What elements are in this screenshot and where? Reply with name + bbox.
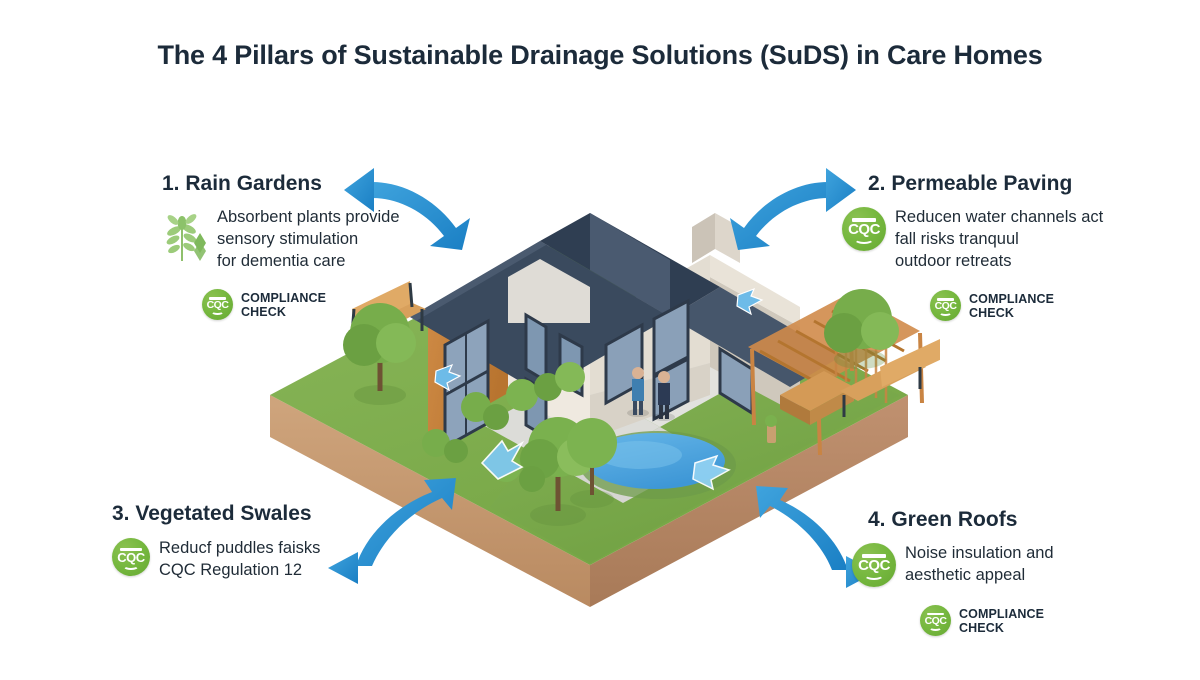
infographic-canvas: The 4 Pillars of Sustainable Drainage So…	[0, 0, 1200, 675]
pillar-4-compliance-check[interactable]: CQC COMPLIANCE CHECK	[920, 605, 1118, 636]
page-title: The 4 Pillars of Sustainable Drainage So…	[0, 40, 1200, 71]
cqc-badge-icon: CQC	[112, 538, 150, 576]
windows-left	[445, 321, 488, 447]
cqc-smile	[123, 561, 140, 569]
cqc-smile	[211, 308, 225, 315]
pillar-vegetated-swales: 3. Vegetated Swales CQC Reducf puddles f…	[112, 502, 372, 582]
cqc-bar	[209, 297, 226, 299]
pillar-1-heading: 1. Rain Gardens	[162, 172, 412, 195]
cqc-smile	[939, 309, 953, 316]
cqc-smile	[854, 234, 873, 244]
cqc-bar	[120, 548, 141, 551]
pillar-3-description: Reducf puddles faisks CQC Regulation 12	[159, 538, 320, 582]
pillar-4-compliance-label: COMPLIANCE CHECK	[959, 607, 1044, 635]
cqc-badge-icon: CQC	[930, 290, 961, 321]
cqc-bar	[862, 554, 887, 558]
pillar-2-heading: 2. Permeable Paving	[868, 172, 1128, 195]
cqc-bar	[852, 218, 877, 222]
pillar-rain-gardens: 1. Rain Gardens	[162, 172, 412, 320]
pillar-2-compliance-check[interactable]: CQC COMPLIANCE CHECK	[930, 290, 1128, 321]
cqc-badge-icon: CQC	[852, 543, 896, 587]
pillar-1-description: Absorbent plants provide sensory stimula…	[217, 207, 400, 272]
cqc-badge-icon: CQC	[842, 207, 886, 251]
cqc-smile	[864, 570, 883, 580]
cqc-bar	[927, 613, 944, 615]
pillar-4-heading: 4. Green Roofs	[868, 508, 1118, 531]
pillar-1-compliance-label: COMPLIANCE CHECK	[241, 291, 326, 319]
cqc-bar	[937, 298, 954, 300]
pillar-3-heading: 3. Vegetated Swales	[112, 502, 372, 525]
pillar-1-compliance-check[interactable]: CQC COMPLIANCE CHECK	[202, 289, 412, 320]
cqc-smile	[929, 624, 943, 631]
pillar-4-description: Noise insulation and aesthetic appeal	[905, 543, 1054, 587]
pillar-permeable-paving: 2. Permeable Paving CQC Reducen water ch…	[868, 172, 1128, 321]
pillar-2-compliance-label: COMPLIANCE CHECK	[969, 292, 1054, 320]
plant-sprig-icon	[162, 207, 208, 263]
cqc-badge-icon: CQC	[202, 289, 233, 320]
pillar-2-description: Reducen water channels act fall risks tr…	[895, 207, 1103, 272]
pillar-green-roofs: 4. Green Roofs CQC Noise insulation and …	[868, 508, 1118, 636]
cqc-badge-icon: CQC	[920, 605, 951, 636]
